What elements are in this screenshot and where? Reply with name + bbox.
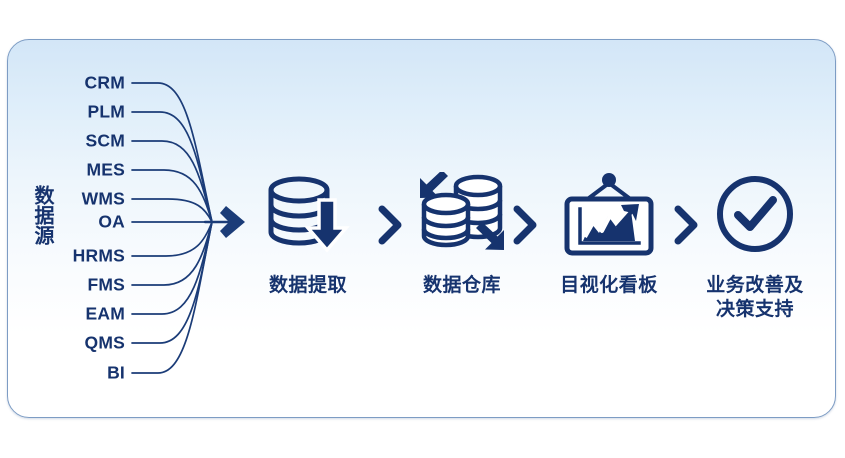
source-item-qms[interactable]: QMS bbox=[40, 334, 125, 352]
stage-visual-dashboard[interactable]: 目视化看板 bbox=[534, 168, 684, 298]
source-item-mes[interactable]: MES bbox=[40, 161, 125, 179]
source-item-oa[interactable]: OA bbox=[40, 213, 125, 231]
source-item-bi[interactable]: BI bbox=[40, 364, 125, 382]
stage-label-data-warehouse: 数据仓库 bbox=[387, 274, 537, 298]
dashboard-board-icon bbox=[534, 168, 684, 260]
source-item-crm[interactable]: CRM bbox=[40, 74, 125, 92]
source-item-fms[interactable]: FMS bbox=[40, 276, 125, 294]
stage-label-business-improvement: 业务改善及 决策支持 bbox=[680, 274, 830, 322]
source-item-wms[interactable]: WMS bbox=[40, 190, 125, 208]
stage-business-improvement[interactable]: 业务改善及 决策支持 bbox=[680, 168, 830, 322]
stage-label-data-extraction: 数据提取 bbox=[233, 274, 383, 298]
source-systems-list: CRMPLMSCMMESWMSOAHRMSFMSEAMQMSBI bbox=[40, 68, 125, 388]
source-item-scm[interactable]: SCM bbox=[40, 132, 125, 150]
stage-data-extraction[interactable]: 数据提取 bbox=[233, 168, 383, 298]
stage-label-visual-dashboard: 目视化看板 bbox=[534, 274, 684, 298]
diagram-canvas: 数据源 bbox=[0, 0, 845, 458]
database-download-icon bbox=[233, 168, 383, 260]
source-item-eam[interactable]: EAM bbox=[40, 305, 125, 323]
hanger-knob bbox=[602, 173, 616, 187]
source-item-hrms[interactable]: HRMS bbox=[40, 247, 125, 265]
check-circle-icon bbox=[680, 168, 830, 260]
source-item-plm[interactable]: PLM bbox=[40, 103, 125, 121]
